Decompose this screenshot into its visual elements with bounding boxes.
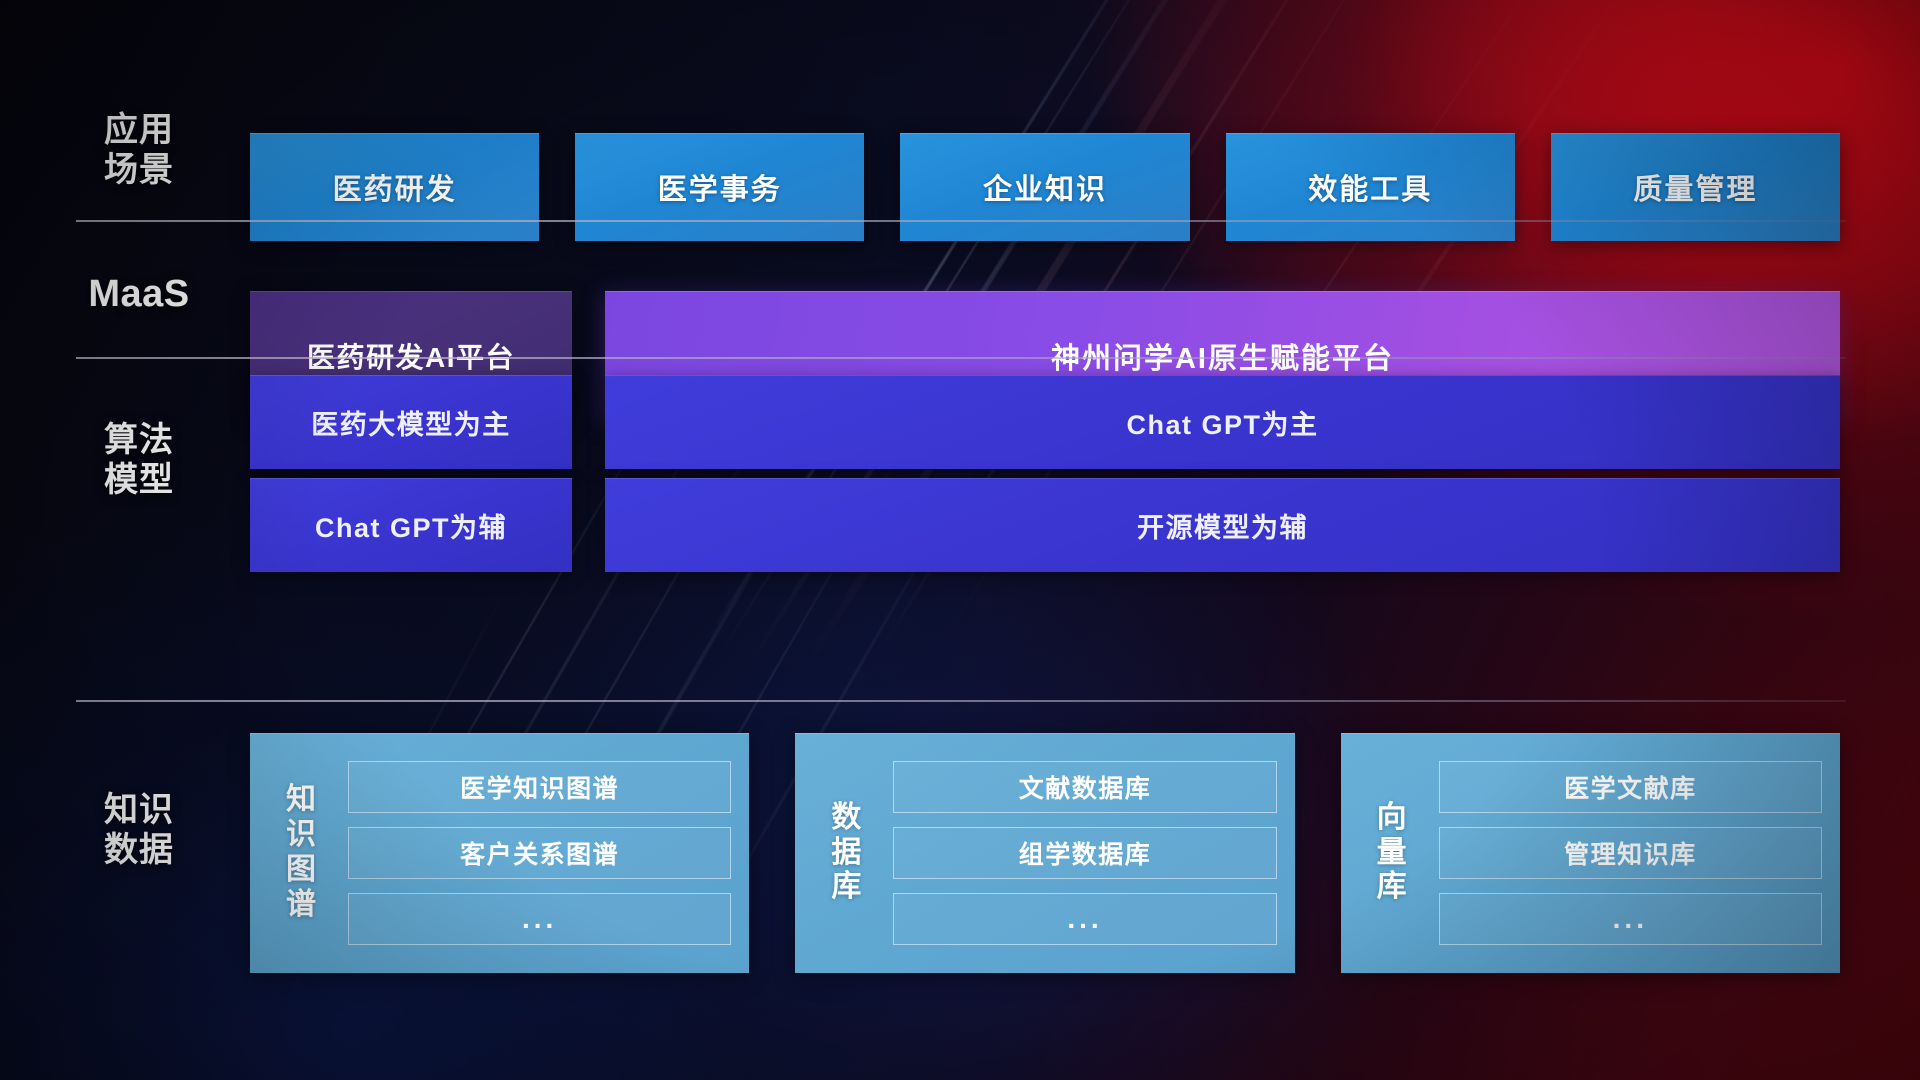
scene-box-1[interactable]: 医药研发 <box>250 133 539 241</box>
knowledge-item[interactable]: 管理知识库 <box>1439 827 1822 879</box>
knowledge-panel-graph-title: 知识图谱 <box>274 783 328 922</box>
algorithm-primary-right-box[interactable]: Chat GPT为主 <box>605 375 1840 469</box>
divider-maas-algorithm <box>76 357 1846 359</box>
knowledge-item-more[interactable]: ... <box>893 893 1276 945</box>
knowledge-panel-vector-title: 向量库 <box>1365 801 1419 905</box>
algorithm-row-secondary: Chat GPT为辅 开源模型为辅 <box>250 478 1840 572</box>
knowledge-panel-database-title: 数据库 <box>819 801 873 905</box>
tier-label-application: 应用 场景 <box>64 110 214 190</box>
knowledge-panel-vector[interactable]: 向量库 医学文献库 管理知识库 ... <box>1341 733 1840 973</box>
knowledge-item-more[interactable]: ... <box>348 893 731 945</box>
knowledge-panel-database-items: 文献数据库 组学数据库 ... <box>893 761 1276 945</box>
algorithm-secondary-right-box[interactable]: 开源模型为辅 <box>605 478 1840 572</box>
knowledge-item[interactable]: 医学知识图谱 <box>348 761 731 813</box>
algorithm-primary-left-box[interactable]: 医药大模型为主 <box>250 375 572 469</box>
tier-label-algorithm: 算法 模型 <box>64 420 214 500</box>
tier-label-knowledge: 知识 数据 <box>64 790 214 870</box>
scene-box-5[interactable]: 质量管理 <box>1551 133 1840 241</box>
knowledge-data-row: 知识图谱 医学知识图谱 客户关系图谱 ... 数据库 文献数据库 组学数据库 .… <box>250 733 1840 973</box>
scene-box-3[interactable]: 企业知识 <box>900 133 1189 241</box>
knowledge-panel-graph[interactable]: 知识图谱 医学知识图谱 客户关系图谱 ... <box>250 733 749 973</box>
knowledge-item[interactable]: 医学文献库 <box>1439 761 1822 813</box>
tier-label-maas: MaaS <box>64 272 214 317</box>
algorithm-secondary-left-box[interactable]: Chat GPT为辅 <box>250 478 572 572</box>
algorithm-row-primary: 医药大模型为主 Chat GPT为主 <box>250 375 1840 469</box>
knowledge-panel-graph-items: 医学知识图谱 客户关系图谱 ... <box>348 761 731 945</box>
scene-box-4[interactable]: 效能工具 <box>1226 133 1515 241</box>
knowledge-panel-vector-items: 医学文献库 管理知识库 ... <box>1439 761 1822 945</box>
knowledge-item[interactable]: 组学数据库 <box>893 827 1276 879</box>
knowledge-item[interactable]: 客户关系图谱 <box>348 827 731 879</box>
application-scenario-row: 医药研发 医学事务 企业知识 效能工具 质量管理 <box>250 133 1840 241</box>
scene-box-2[interactable]: 医学事务 <box>575 133 864 241</box>
knowledge-item[interactable]: 文献数据库 <box>893 761 1276 813</box>
slide-canvas: 应用 场景 医药研发 医学事务 企业知识 效能工具 质量管理 MaaS 医药研发… <box>0 0 1920 1080</box>
divider-application-maas <box>76 220 1846 222</box>
knowledge-item-more[interactable]: ... <box>1439 893 1822 945</box>
knowledge-panel-database[interactable]: 数据库 文献数据库 组学数据库 ... <box>795 733 1294 973</box>
divider-algorithm-knowledge <box>76 700 1846 702</box>
